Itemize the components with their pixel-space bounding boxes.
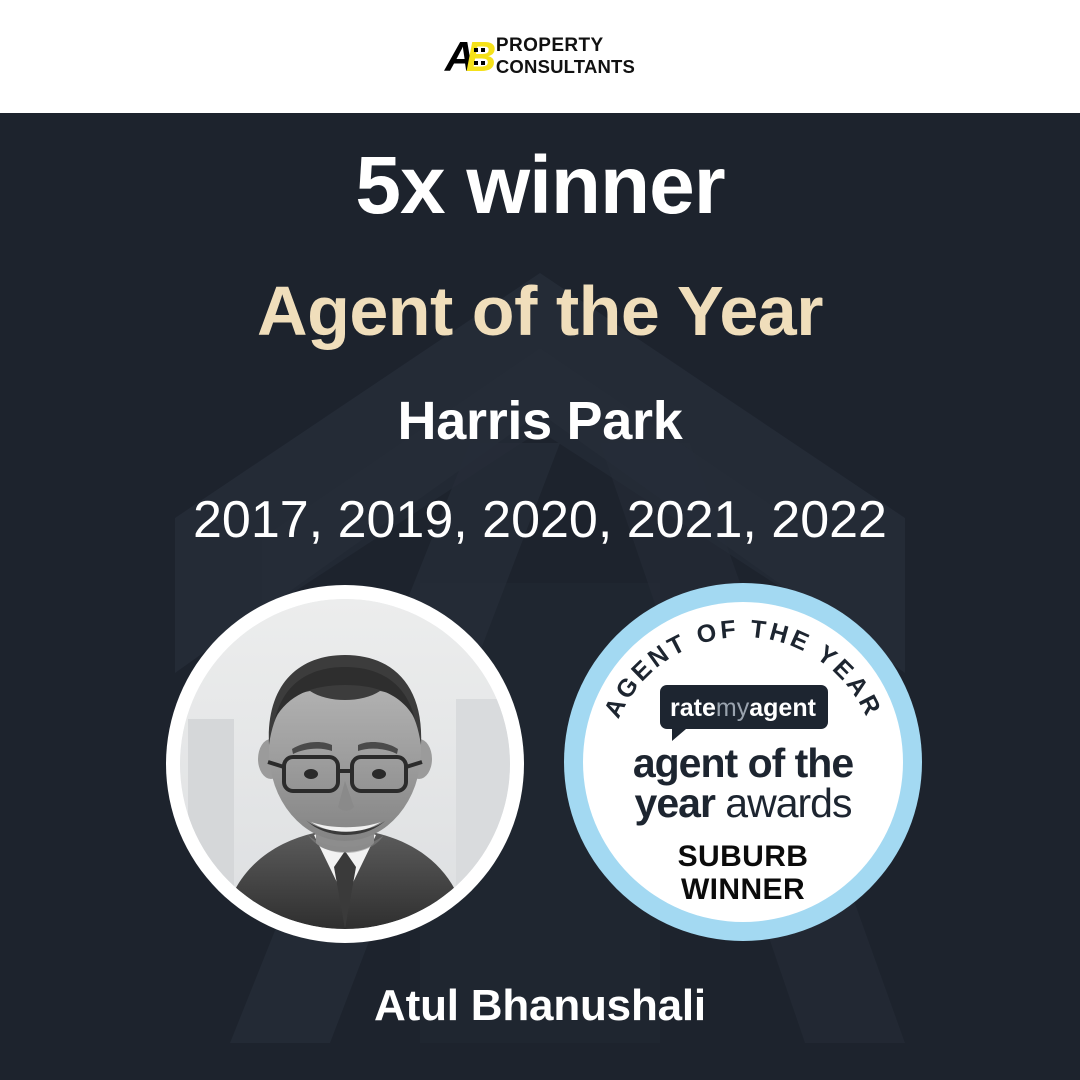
agent-name: Atul Bhanushali — [0, 984, 1080, 1028]
award-years: 2017, 2019, 2020, 2021, 2022 — [0, 494, 1080, 546]
ratemyagent-badge: AGENT OF THE YEAR ratemyagent agent of t… — [562, 581, 924, 943]
agent-photo — [166, 585, 524, 943]
logo-wordmark-line-2: CONSULTANTS — [496, 58, 635, 77]
logo-window-1 — [474, 48, 478, 52]
ab-monogram-icon: A B — [445, 37, 491, 77]
badge-footer-line-2: WINNER — [681, 873, 805, 906]
headline-winner: 5x winner — [0, 145, 1080, 227]
agent-photo-image — [180, 599, 510, 929]
svg-text:ratemyagent: ratemyagent — [670, 694, 817, 722]
badge-headline-line-2: year awards — [635, 780, 852, 826]
suburb-name: Harris Park — [0, 394, 1080, 448]
logo-window-2 — [481, 48, 485, 52]
logo-wordmark: PROPERTY CONSULTANTS — [496, 36, 635, 77]
award-title: Agent of the Year — [0, 276, 1080, 346]
logo-window-3 — [474, 61, 478, 65]
poster-content: 5x winner Agent of the Year Harris Park … — [0, 113, 1080, 1080]
logo-window-4 — [481, 61, 485, 65]
ab-property-consultants-logo[interactable]: A B PROPERTY CONSULTANTS — [445, 36, 635, 77]
logo-letter-b: B — [466, 37, 494, 77]
brand-header: A B PROPERTY CONSULTANTS — [0, 0, 1080, 113]
badge-footer-line-1: SUBURB — [678, 840, 809, 873]
logo-wordmark-line-1: PROPERTY — [496, 36, 635, 55]
